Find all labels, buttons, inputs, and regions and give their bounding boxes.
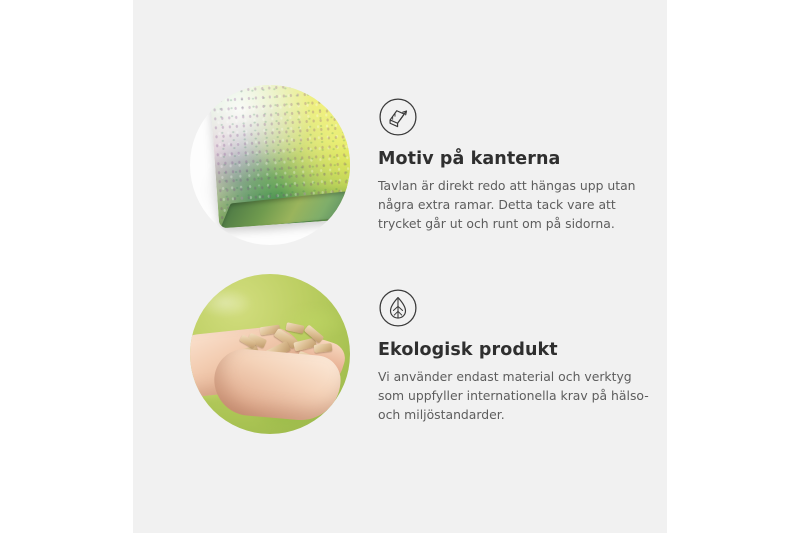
feature-text-edges: Motiv på kanterna Tavlan är direkt redo … xyxy=(350,85,650,233)
hands-with-wood-chips-photo xyxy=(190,274,350,434)
feature-description: Vi använder endast material och verktyg … xyxy=(378,368,650,425)
canvas-print-object xyxy=(209,85,350,228)
leaf-icon xyxy=(378,288,418,328)
product-feature-banner: Motiv på kanterna Tavlan är direkt redo … xyxy=(0,0,800,533)
feature-description: Tavlan är direkt redo att hängas upp uta… xyxy=(378,177,650,234)
feature-block-edges: Motiv på kanterna Tavlan är direkt redo … xyxy=(190,85,650,245)
feature-block-eco: Ekologisk produkt Vi använder endast mat… xyxy=(190,274,650,434)
feature-text-eco: Ekologisk produkt Vi använder endast mat… xyxy=(350,274,650,424)
canvas-wrapped-edge-icon xyxy=(378,97,418,137)
feature-title: Ekologisk produkt xyxy=(378,340,650,362)
feature-title: Motiv på kanterna xyxy=(378,149,650,171)
content-panel xyxy=(133,0,667,533)
canvas-corner-photo xyxy=(190,85,350,245)
